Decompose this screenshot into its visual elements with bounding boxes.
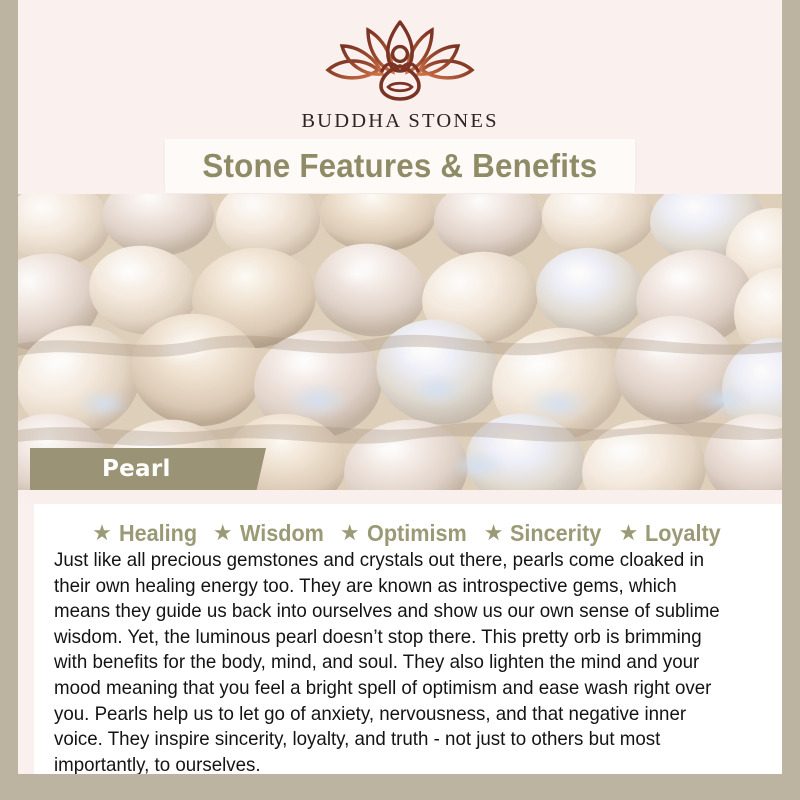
- stone-photo: [18, 194, 782, 490]
- stone-name-label: Pearl: [102, 456, 171, 482]
- star-icon: ★: [213, 522, 233, 544]
- poster-inner-card: BUDDHA STONES Stone Features & Benefits: [18, 0, 782, 774]
- title-banner: Stone Features & Benefits: [165, 139, 635, 193]
- benefits-row: ★ Healing ★ Wisdom ★ Optimism ★ Sincerit…: [54, 520, 764, 547]
- lotus-meditation-icon: [320, 18, 480, 104]
- benefit-item-sincerity: ★ Sincerity: [484, 520, 608, 547]
- description-panel: ★ Healing ★ Wisdom ★ Optimism ★ Sincerit…: [34, 504, 782, 774]
- star-icon: ★: [340, 522, 360, 544]
- star-icon: ★: [92, 522, 112, 544]
- description-text: Just like all precious gemstones and cry…: [54, 548, 739, 774]
- benefit-label: Loyalty: [645, 520, 721, 547]
- benefit-item-healing: ★ Healing: [92, 520, 202, 547]
- benefit-item-loyalty: ★ Loyalty: [619, 520, 726, 547]
- benefit-label: Optimism: [367, 520, 467, 547]
- benefit-label: Wisdom: [240, 520, 324, 547]
- poster-root: BUDDHA STONES Stone Features & Benefits: [0, 0, 800, 800]
- stone-name-bar: Pearl: [30, 448, 266, 490]
- page-title: Stone Features & Benefits: [203, 147, 598, 185]
- benefit-item-wisdom: ★ Wisdom: [213, 520, 329, 547]
- benefit-label: Sincerity: [510, 520, 601, 547]
- brand-wordmark: BUDDHA STONES: [18, 110, 782, 133]
- star-icon: ★: [484, 522, 504, 544]
- divider-strip: [18, 490, 782, 504]
- star-icon: ★: [619, 522, 639, 544]
- benefit-label: Healing: [119, 520, 197, 547]
- benefit-item-optimism: ★ Optimism: [340, 520, 473, 547]
